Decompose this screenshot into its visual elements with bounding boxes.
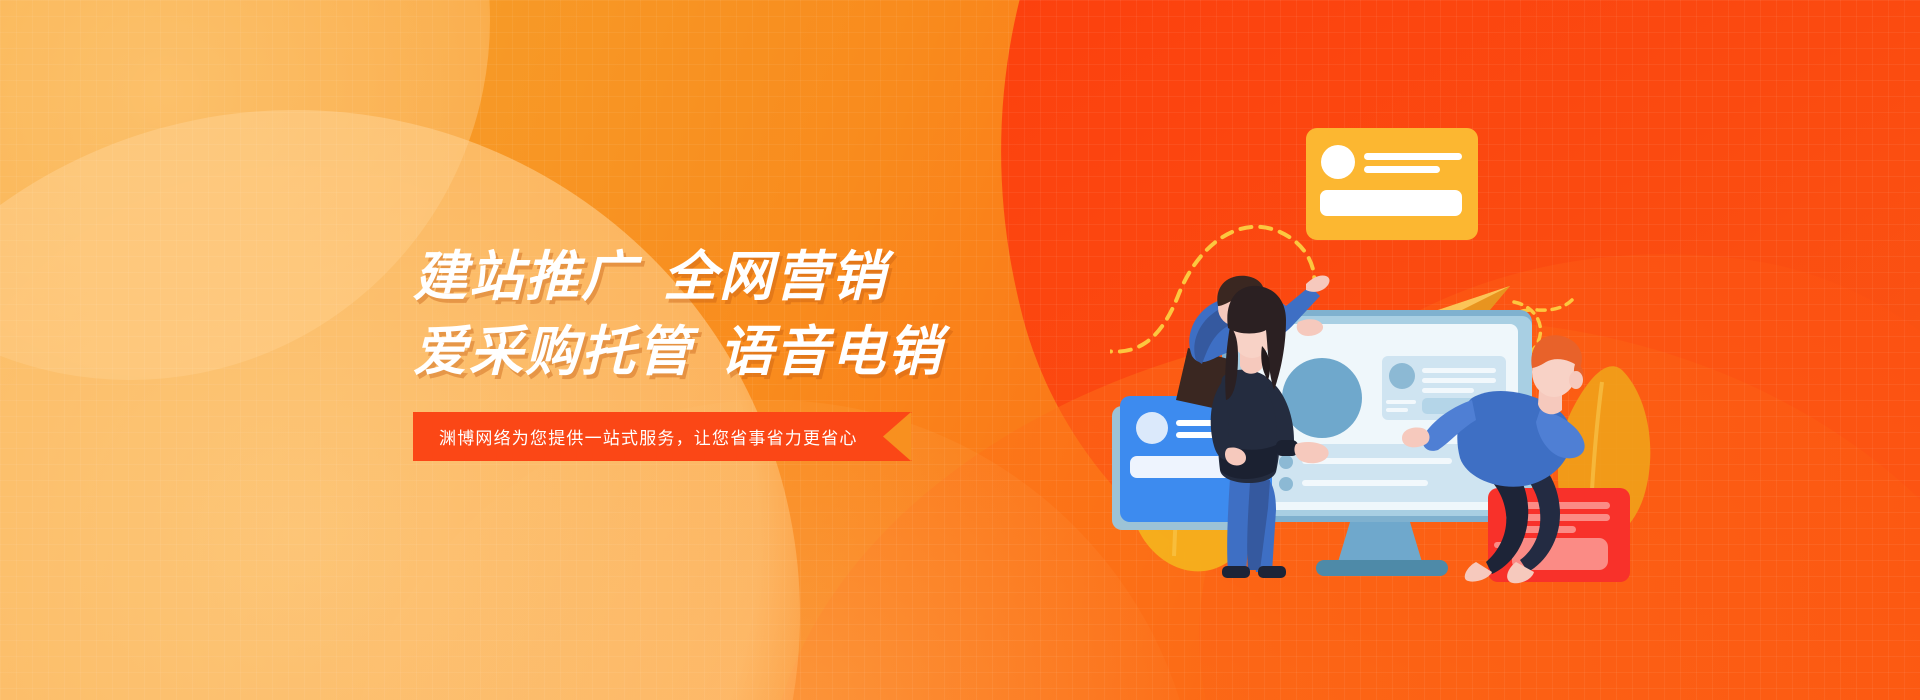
- headline-line1-part1: 建站推广: [413, 247, 637, 307]
- subtitle-ribbon: 渊博网络为您提供一站式服务，让您省事省力更省心: [413, 412, 911, 461]
- headline-line2-part1: 爱采购托管: [413, 322, 693, 382]
- hero-illustration: [1110, 110, 1670, 590]
- headline-line-1: 建站推广全网营销: [413, 240, 973, 315]
- headline-line-2: 爱采购托管语音电销: [413, 315, 973, 390]
- headline-line2-part2: 语音电销: [719, 322, 943, 382]
- yellow-profile-card: [1306, 128, 1478, 240]
- headline-line1-part2: 全网营销: [663, 247, 887, 307]
- hero-copy: 建站推广全网营销 爱采购托管语音电销 渊博网络为您提供一站式服务，让您省事省力更…: [413, 240, 973, 461]
- subtitle-ribbon-text: 渊博网络为您提供一站式服务，让您省事省力更省心: [413, 424, 858, 449]
- ribbon-notch: [883, 412, 911, 461]
- hero-banner: 建站推广全网营销 爱采购托管语音电销 渊博网络为您提供一站式服务，让您省事省力更…: [0, 0, 1920, 700]
